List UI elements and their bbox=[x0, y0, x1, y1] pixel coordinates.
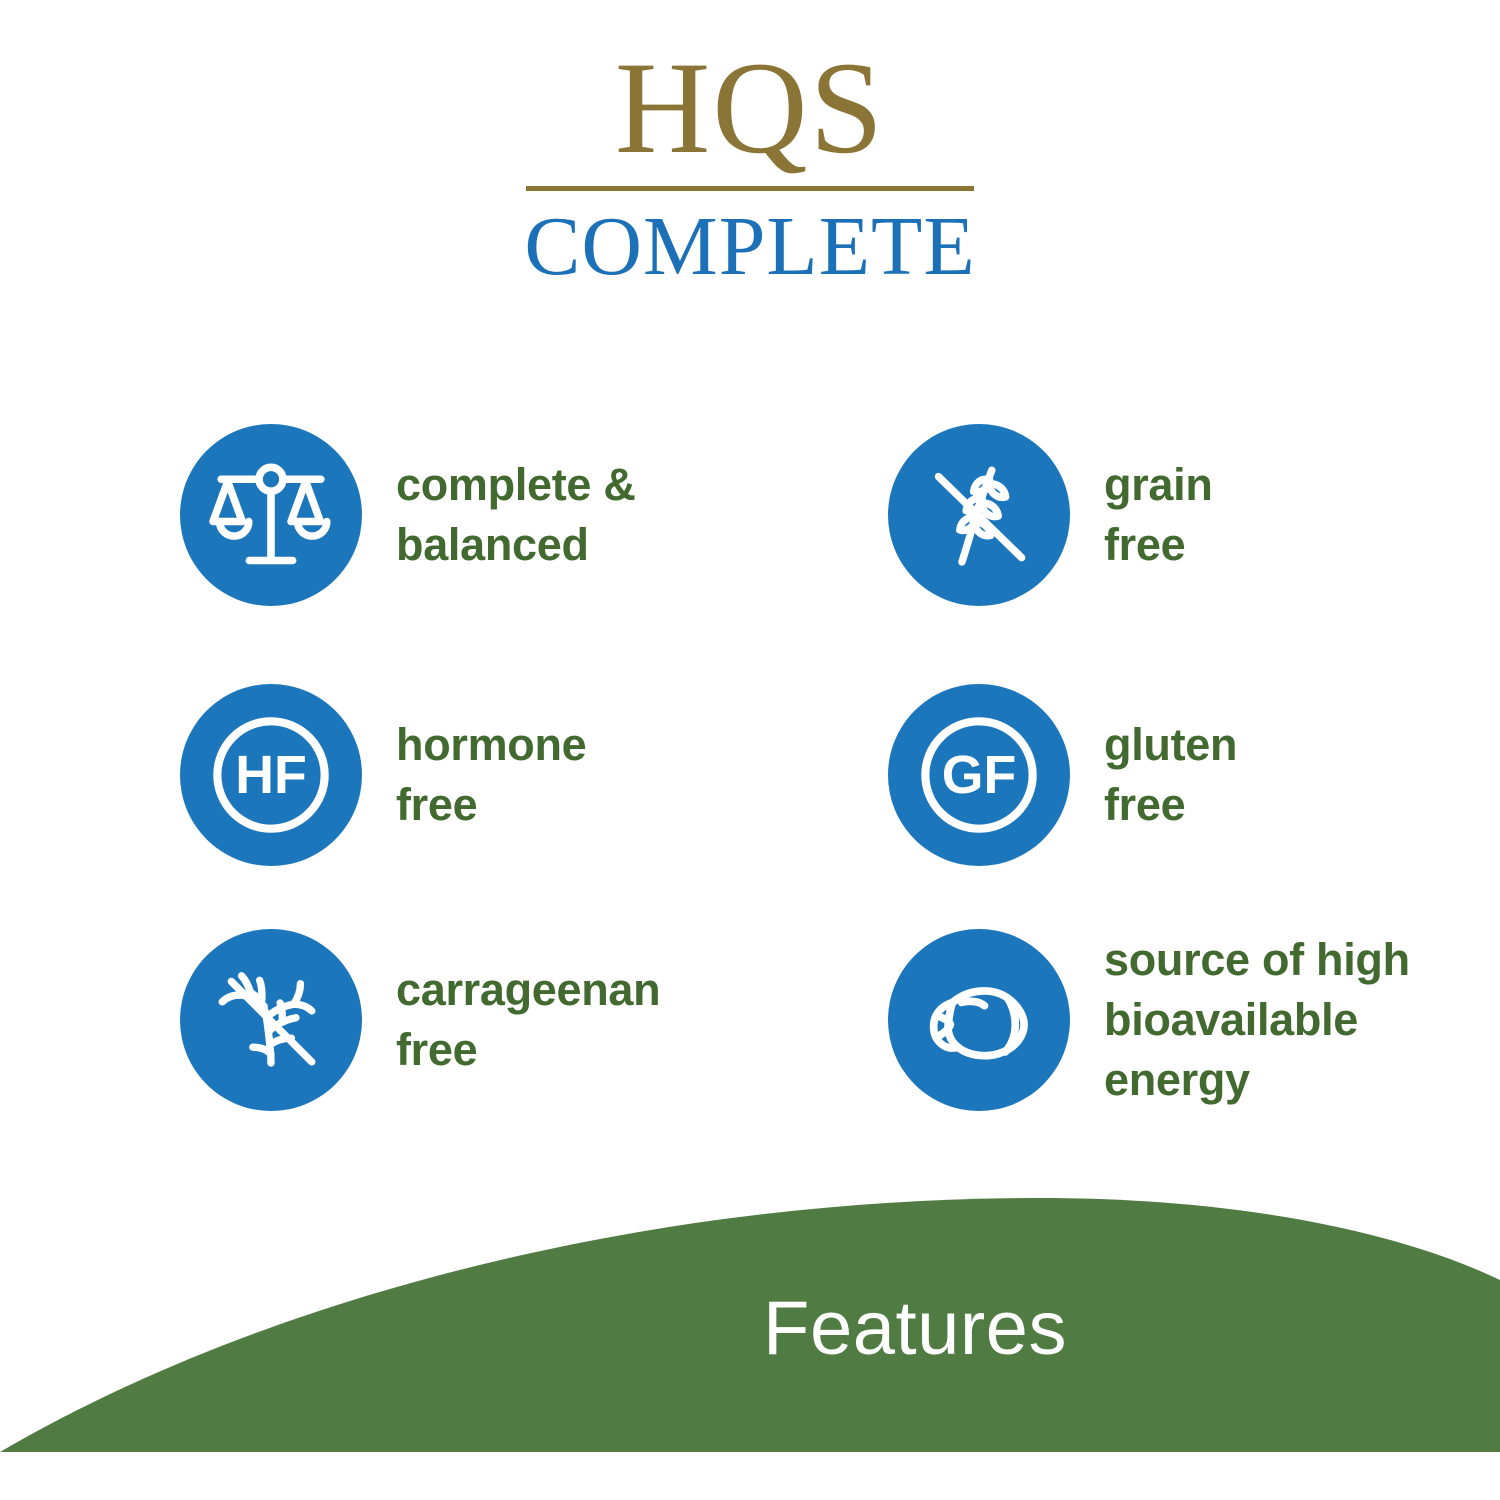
feature-list: complete & balanced grain free bbox=[0, 400, 1500, 1160]
feature-label: hormone free bbox=[396, 715, 586, 835]
balance-scale-icon bbox=[180, 424, 362, 606]
brand-logo: HQS COMPLETE bbox=[0, 42, 1500, 291]
feature-label: source of high bioavailable energy bbox=[1104, 930, 1410, 1110]
feature-label: carrageenan free bbox=[396, 960, 660, 1080]
feature-label: complete & balanced bbox=[396, 455, 636, 575]
feature-item-carrageenan-free: carrageenan free bbox=[180, 929, 660, 1111]
gf-monogram-icon: GF bbox=[888, 684, 1070, 866]
banner-title: Features bbox=[0, 1285, 1500, 1372]
feature-label: gluten free bbox=[1104, 715, 1237, 835]
seaweed-slashed-icon bbox=[180, 929, 362, 1111]
feature-item-hormone-free: HF hormone free bbox=[180, 684, 586, 866]
hf-monogram-icon: HF bbox=[180, 684, 362, 866]
feature-item-bioavailable-energy: source of high bioavailable energy bbox=[888, 929, 1410, 1111]
brand-divider-rule bbox=[526, 186, 974, 191]
gf-monogram-text: GF bbox=[942, 745, 1017, 805]
hf-monogram-text: HF bbox=[235, 745, 307, 805]
feature-item-grain-free: grain free bbox=[888, 424, 1213, 606]
feature-item-gluten-free: GF gluten free bbox=[888, 684, 1237, 866]
product-feature-infographic: HQS COMPLETE complete & balanced bbox=[0, 0, 1500, 1500]
wheat-slashed-icon bbox=[888, 424, 1070, 606]
brand-subtitle-text: COMPLETE bbox=[0, 203, 1500, 291]
feature-label: grain free bbox=[1104, 455, 1213, 575]
fish-icon bbox=[888, 929, 1070, 1111]
brand-mark-text: HQS bbox=[0, 42, 1500, 174]
feature-item-complete-balanced: complete & balanced bbox=[180, 424, 636, 606]
